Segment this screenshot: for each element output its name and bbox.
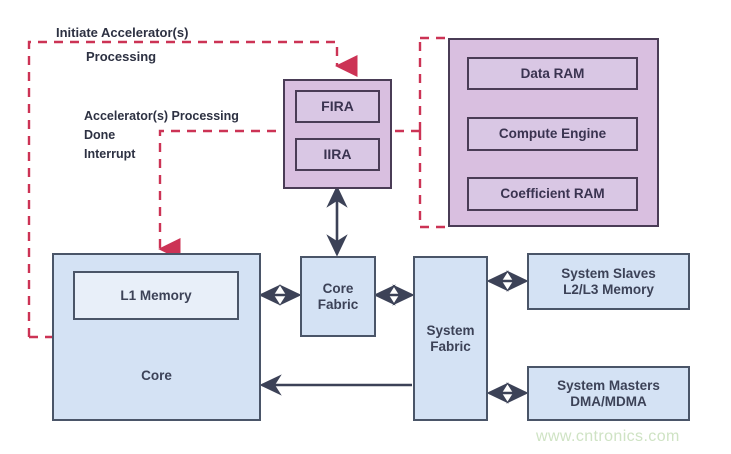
system-fabric-label-line1: System: [426, 323, 474, 339]
site-watermark: www.cntronics.com: [536, 428, 680, 446]
system-masters-label-line1: System Masters: [557, 378, 660, 394]
initiate-accelerator-label-line2: Processing: [86, 48, 156, 65]
system-slaves-label-line1: System Slaves: [561, 266, 656, 282]
core-fabric-label-line1: Core: [323, 281, 354, 297]
system-fabric-block[interactable]: System Fabric: [413, 256, 488, 421]
coefficient-ram-box[interactable]: Coefficient RAM: [467, 177, 638, 211]
block-diagram-canvas: Initiate Accelerator(s) Processing Accel…: [0, 0, 731, 454]
done-interrupt-label-line2: Done: [84, 127, 115, 144]
done-interrupt-label-line3: Interrupt: [84, 146, 135, 163]
fira-register-box[interactable]: FIRA: [295, 90, 380, 123]
core-fabric-label-line2: Fabric: [318, 297, 359, 313]
iira-register-box[interactable]: IIRA: [295, 138, 380, 171]
core-fabric-block[interactable]: Core Fabric: [300, 256, 376, 337]
system-slaves-block[interactable]: System Slaves L2/L3 Memory: [527, 253, 690, 310]
system-fabric-label-line2: Fabric: [430, 339, 471, 355]
system-masters-label-line2: DMA/MDMA: [570, 394, 647, 410]
l1-memory-box[interactable]: L1 Memory: [73, 271, 239, 320]
initiate-accelerator-label-line1: Initiate Accelerator(s): [56, 24, 188, 41]
data-ram-box[interactable]: Data RAM: [467, 57, 638, 90]
system-masters-block[interactable]: System Masters DMA/MDMA: [527, 366, 690, 421]
system-slaves-label-line2: L2/L3 Memory: [563, 282, 654, 298]
core-block-label: Core: [52, 368, 261, 383]
done-interrupt-label-line1: Accelerator(s) Processing: [84, 108, 239, 125]
compute-engine-box[interactable]: Compute Engine: [467, 117, 638, 151]
